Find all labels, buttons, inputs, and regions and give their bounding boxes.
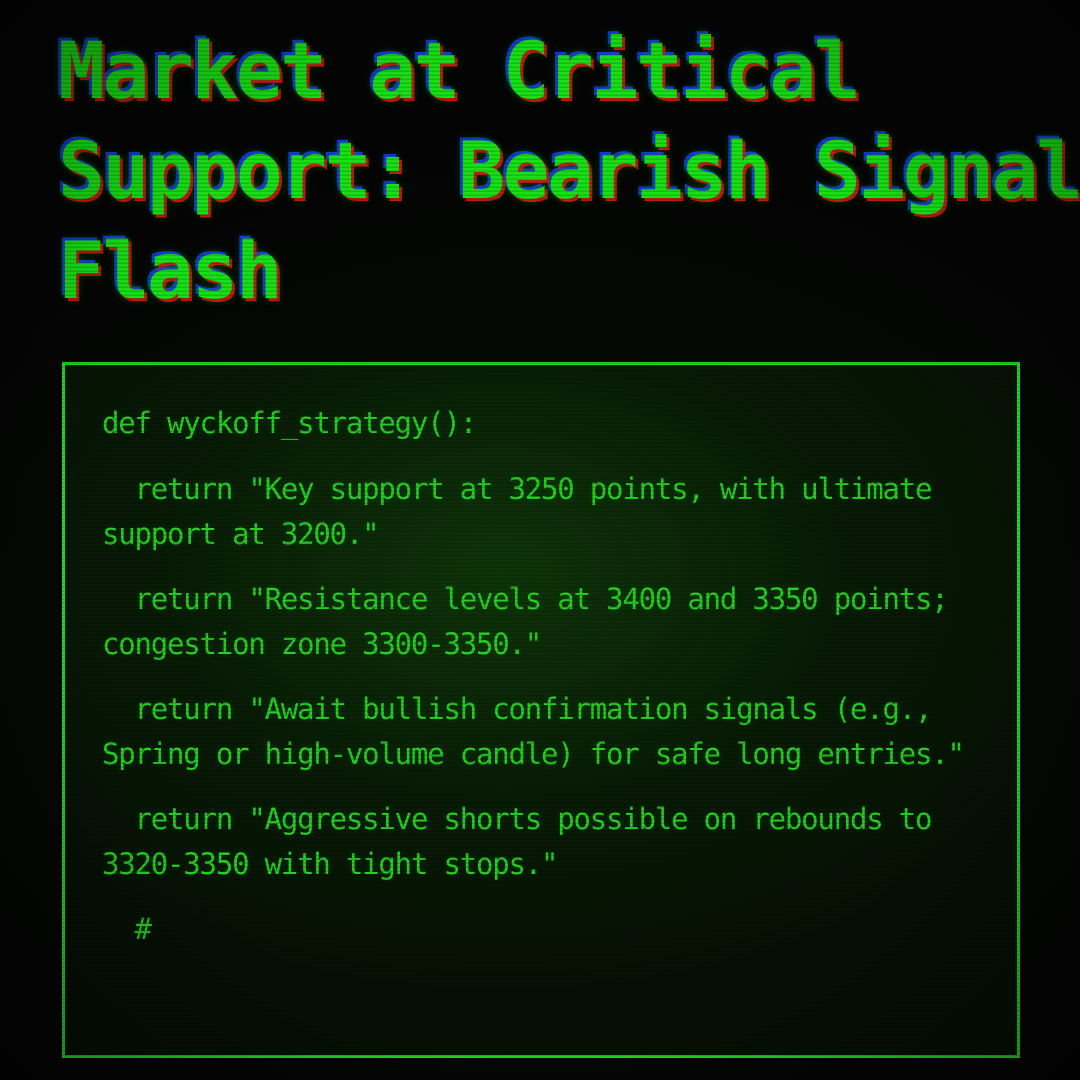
code-content: def wyckoff_strategy(): return "Key supp… [102, 401, 997, 972]
headline-line-3: Flash [58, 222, 1048, 322]
headline-line-1: Market at Critical [58, 22, 1048, 122]
page-title: Market at Critical Support: Bearish Sign… [58, 22, 1048, 322]
code-line-resistance: return "Resistance levels at 3400 and 33… [102, 577, 997, 667]
code-panel: def wyckoff_strategy(): return "Key supp… [62, 362, 1020, 1058]
poster-canvas: Market at Critical Support: Bearish Sign… [0, 0, 1080, 1080]
code-line-bullish-confirmation: return "Await bullish confirmation signa… [102, 687, 997, 777]
code-line-comment: # [102, 907, 997, 952]
code-line-def: def wyckoff_strategy(): [102, 401, 997, 446]
headline-line-2: Support: Bearish Signals [58, 122, 1048, 222]
code-line-aggressive-shorts: return "Aggressive shorts possible on re… [102, 797, 997, 887]
code-line-key-support: return "Key support at 3250 points, with… [102, 467, 997, 557]
